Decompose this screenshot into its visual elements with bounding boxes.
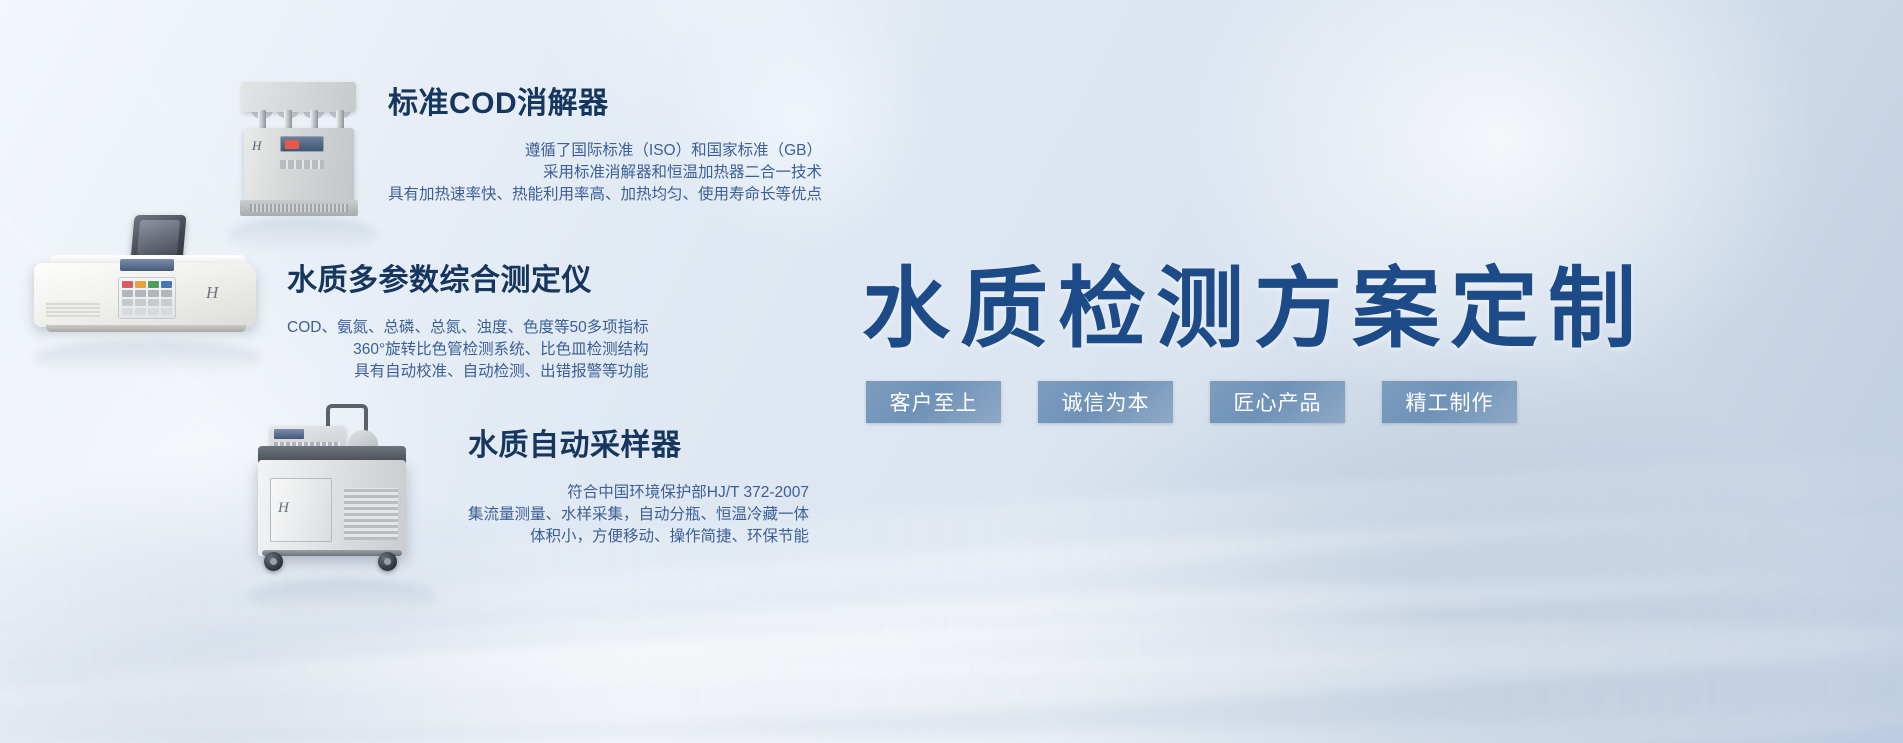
brand-logo-sampler: H [278, 500, 289, 517]
water-quality-banner: H H H [0, 0, 1903, 743]
product-desc-multi-parameter-analyzer: COD、氨氮、总磷、总氮、浊度、色度等50多项指标 360°旋转比色管检测系统、… [287, 317, 649, 383]
brand-logo-multi: H [206, 283, 218, 303]
banner-badge-row: 客户至上 诚信为本 匠心产品 精工制作 [866, 381, 1517, 423]
product-desc-line: 360°旋转比色管检测系统、比色皿检测结构 [287, 339, 649, 361]
auto-water-sampler-image: H [248, 404, 438, 579]
badge-integrity[interactable]: 诚信为本 [1038, 381, 1173, 423]
sampler-vent-grille [344, 488, 398, 540]
reflection-multi [34, 340, 262, 376]
product-desc-cod-digester: 遵循了国际标准（ISO）和国家标准（GB） 采用标准消解器和恒温加热器二合一技术… [388, 140, 822, 206]
wave-ribbon-1 [0, 594, 1903, 743]
cod-digester-image: H [228, 42, 378, 217]
sampler-display [274, 429, 304, 439]
digester-head [242, 82, 356, 112]
badge-craftsmanship[interactable]: 匠心产品 [1210, 381, 1345, 423]
banner-headline: 水质检测方案定制 [862, 238, 1646, 365]
product-block-auto-water-sampler: 水质自动采样器 符合中国环境保护部HJ/T 372-2007 集流量测量、水样采… [468, 420, 809, 548]
reflection-sampler [248, 579, 438, 615]
product-block-multi-parameter-analyzer: 水质多参数综合测定仪 COD、氨氮、总磷、总氮、浊度、色度等50多项指标 360… [287, 255, 649, 383]
sampler-wheel-right [378, 552, 397, 571]
product-block-cod-digester: 标准COD消解器 遵循了国际标准（ISO）和国家标准（GB） 采用标准消解器和恒… [388, 78, 822, 206]
analyzer-display [120, 259, 174, 271]
analyzer-keypad [118, 277, 176, 319]
sampler-wheel-left [264, 552, 283, 571]
badge-fine-manufacturing[interactable]: 精工制作 [1382, 381, 1517, 423]
analyzer-vent [46, 301, 100, 317]
wave-shadow-1 [0, 652, 1903, 743]
product-desc-line: 具有自动校准、自动检测、出错报警等功能 [287, 361, 649, 383]
product-title-multi-parameter-analyzer: 水质多参数综合测定仪 [287, 255, 649, 299]
product-desc-line: 具有加热速率快、热能利用率高、加热均匀、使用寿命长等优点 [388, 184, 822, 206]
analyzer-base [46, 325, 246, 332]
product-desc-line: 集流量测量、水样采集，自动分瓶、恒温冷藏一体 [468, 504, 809, 526]
badge-customer-first[interactable]: 客户至上 [866, 381, 1001, 423]
product-desc-line: 体积小，方便移动、操作简捷、环保节能 [468, 526, 809, 548]
product-desc-line: 采用标准消解器和恒温加热器二合一技术 [388, 162, 822, 184]
product-desc-line: COD、氨氮、总磷、总氮、浊度、色度等50多项指标 [287, 317, 649, 339]
product-desc-line: 遵循了国际标准（ISO）和国家标准（GB） [388, 140, 822, 162]
multi-parameter-analyzer-image: H [34, 215, 262, 340]
product-desc-auto-water-sampler: 符合中国环境保护部HJ/T 372-2007 集流量测量、水样采集，自动分瓶、恒… [468, 482, 809, 548]
product-title-auto-water-sampler: 水质自动采样器 [468, 420, 809, 464]
digester-vent [250, 204, 348, 212]
brand-logo-cod: H [252, 138, 261, 154]
product-title-cod-digester: 标准COD消解器 [388, 78, 822, 122]
digester-keypad [280, 160, 324, 169]
digester-display [280, 136, 324, 152]
product-desc-line: 符合中国环境保护部HJ/T 372-2007 [468, 482, 809, 504]
